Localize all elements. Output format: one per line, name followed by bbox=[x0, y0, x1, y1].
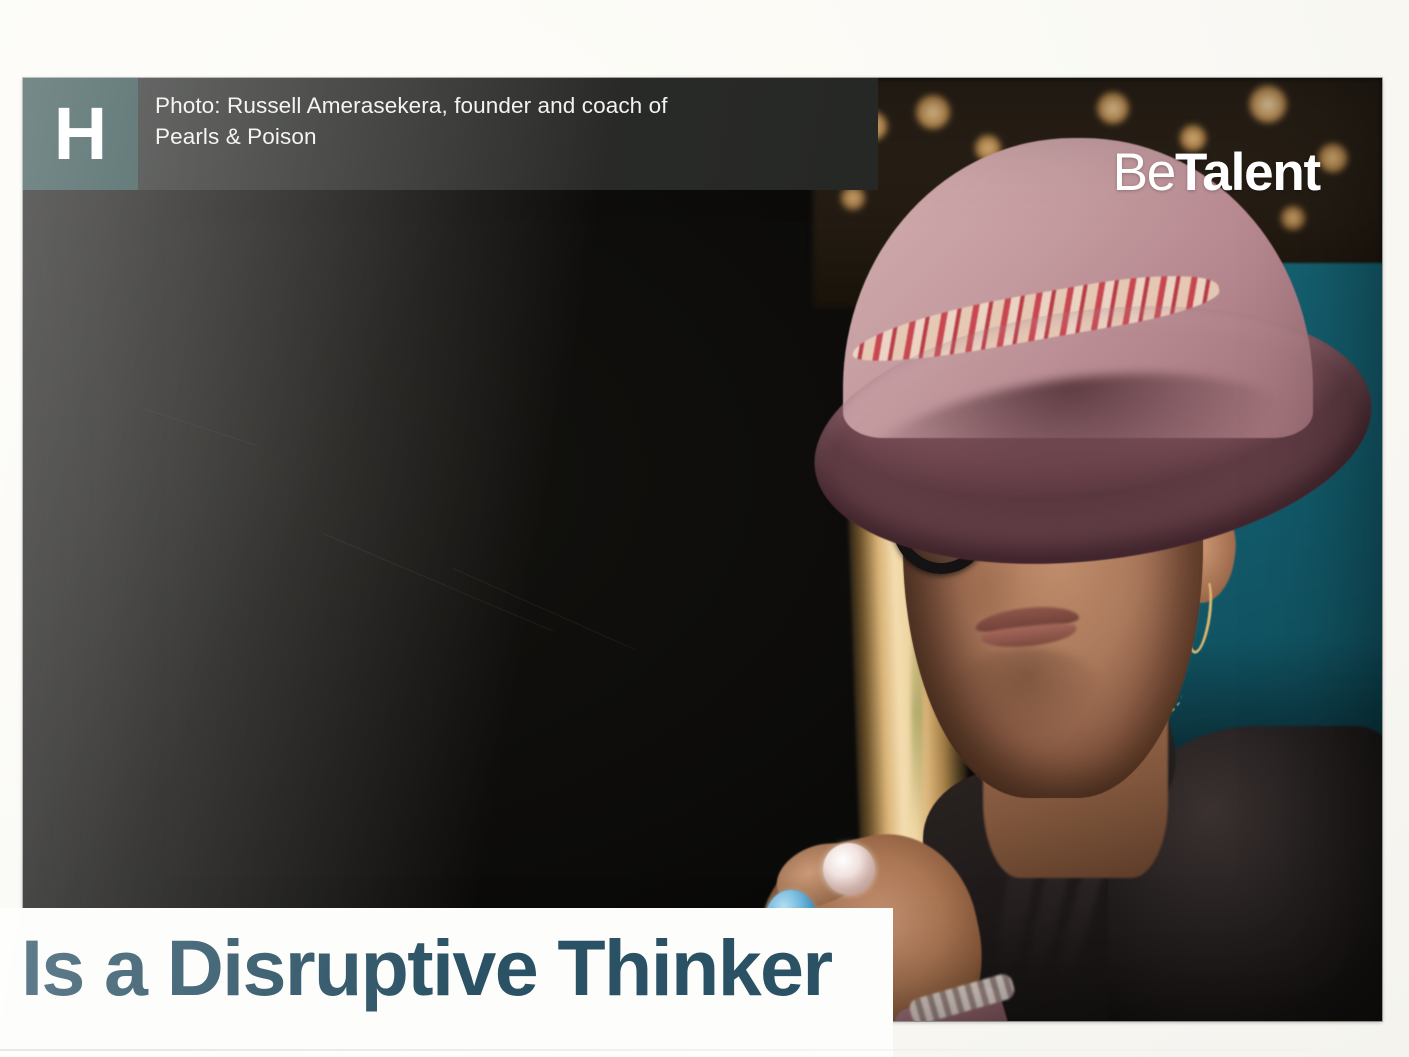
photo-caption-bar: H Photo: Russell Amerasekera, founder an… bbox=[23, 78, 878, 190]
poster-page: H Photo: Russell Amerasekera, founder an… bbox=[0, 0, 1409, 1057]
portrait-photo: H Photo: Russell Amerasekera, founder an… bbox=[23, 78, 1382, 1021]
logo-talent-text: Talent bbox=[1175, 143, 1320, 202]
diamond-ring bbox=[823, 843, 875, 895]
page-bottom-rule bbox=[0, 1049, 1409, 1051]
drop-cap-letter-badge: H bbox=[23, 78, 138, 190]
betalent-logo: BeTalent bbox=[1113, 146, 1320, 199]
page-title: Is a Disruptive Thinker bbox=[21, 928, 832, 1007]
caption-line-2: Pearls & Poison bbox=[155, 124, 317, 149]
chin-shading bbox=[953, 648, 1103, 738]
logo-be-text: Be bbox=[1113, 143, 1175, 202]
caption-line-1: Photo: Russell Amerasekera, founder and … bbox=[155, 93, 668, 118]
photo-credit-caption: Photo: Russell Amerasekera, founder and … bbox=[138, 78, 668, 152]
